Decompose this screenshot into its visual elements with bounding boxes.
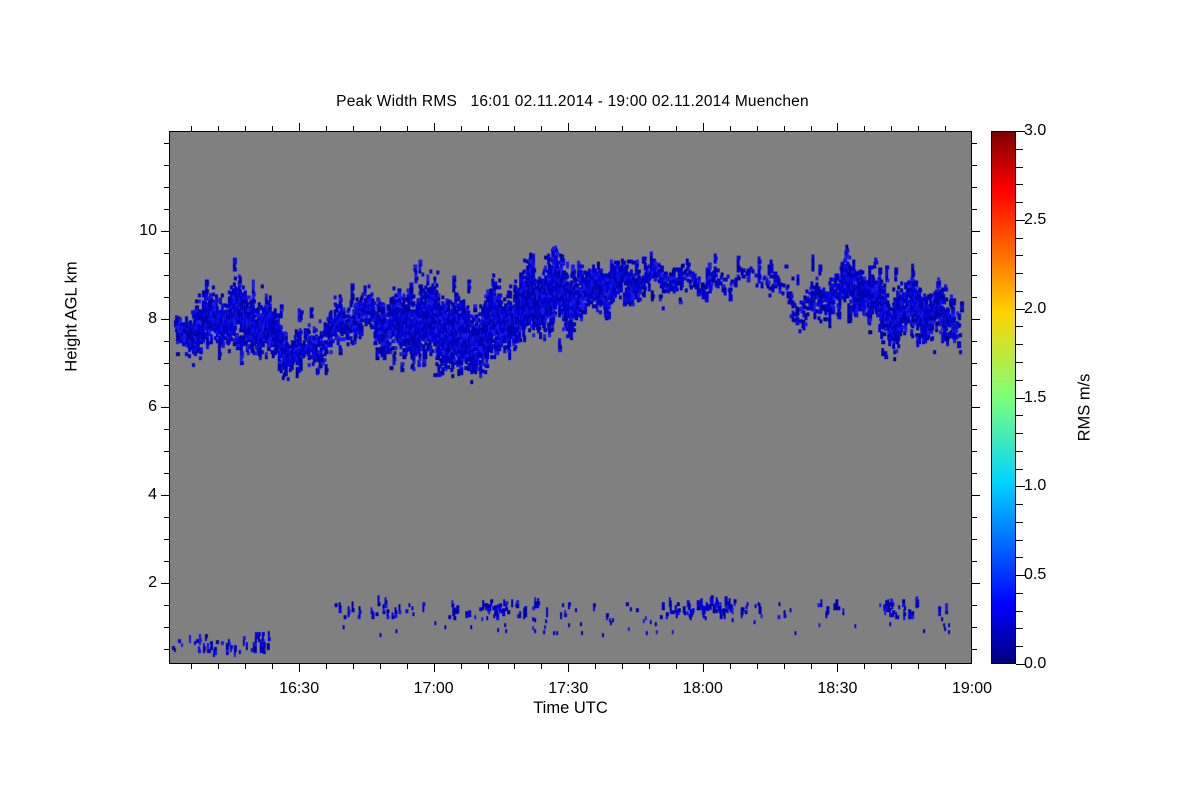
colorbar-tick <box>1016 611 1023 612</box>
colorbar-tick <box>1016 593 1023 594</box>
colorbar-tick-label: 3.0 <box>1024 122 1046 140</box>
colorbar-tick <box>1016 238 1023 239</box>
colorbar-tick <box>1016 167 1023 168</box>
colorbar-tick <box>1016 149 1023 150</box>
x-axis-tick <box>434 664 435 672</box>
colorbar-gradient <box>992 132 1015 663</box>
x-axis-tick-label: 17:30 <box>528 680 608 698</box>
x-axis-tick <box>461 664 462 669</box>
colorbar-tick-label: 0.0 <box>1024 655 1046 673</box>
x-axis-title: Time UTC <box>169 699 972 718</box>
colorbar-tick <box>1016 344 1023 345</box>
y-axis-tick <box>972 561 977 562</box>
colorbar-tick <box>1016 362 1023 363</box>
colorbar-tick <box>1016 451 1023 452</box>
y-axis-tick <box>972 297 977 298</box>
colorbar-tick <box>1016 469 1023 470</box>
x-axis-tick-label: 18:30 <box>797 680 877 698</box>
x-axis-tick <box>326 664 327 669</box>
y-axis-tick <box>972 275 977 276</box>
x-axis-tick <box>864 664 865 669</box>
x-axis-tick <box>649 664 650 669</box>
y-axis-tick <box>972 605 977 606</box>
x-axis-tick <box>837 664 838 672</box>
y-axis-tick <box>972 165 977 166</box>
y-axis-tick <box>972 473 977 474</box>
colorbar-tick-label: 0.5 <box>1024 566 1046 584</box>
y-axis-tick <box>972 583 980 584</box>
x-axis-tick <box>299 123 300 131</box>
y-axis-tick-label: 10 <box>117 222 157 240</box>
x-axis-tick <box>595 664 596 669</box>
colorbar-tick <box>1016 628 1023 629</box>
x-axis-tick-label: 17:00 <box>394 680 474 698</box>
colorbar-tick <box>1016 380 1023 381</box>
y-axis-tick-label: 8 <box>117 310 157 328</box>
y-axis-tick <box>972 539 977 540</box>
colorbar-tick <box>1016 184 1023 185</box>
colorbar-tick <box>1016 202 1023 203</box>
y-axis-tick <box>972 429 977 430</box>
x-axis-tick <box>514 664 515 669</box>
y-axis-tick <box>161 407 169 408</box>
y-axis-tick <box>972 649 977 650</box>
x-axis-tick <box>703 123 704 131</box>
colorbar-tick <box>1016 557 1023 558</box>
x-axis-tick <box>918 664 919 669</box>
y-axis-tick <box>972 231 980 232</box>
y-axis-tick <box>972 319 980 320</box>
y-axis-tick <box>972 143 977 144</box>
x-axis-tick <box>703 664 704 672</box>
x-axis-tick <box>622 664 623 669</box>
y-axis-tick <box>161 583 169 584</box>
y-axis-tick-label: 6 <box>117 398 157 416</box>
colorbar-tick <box>1016 540 1023 541</box>
y-axis-tick <box>161 495 169 496</box>
x-axis-tick <box>272 664 273 669</box>
colorbar-tick-label: 1.5 <box>1024 389 1046 407</box>
x-axis-tick <box>757 664 758 669</box>
x-axis-tick <box>299 664 300 672</box>
x-axis-tick <box>784 664 785 669</box>
colorbar-tick <box>1016 326 1023 327</box>
y-axis-tick <box>972 627 977 628</box>
x-axis-tick <box>837 123 838 131</box>
colorbar-tick <box>1016 522 1023 523</box>
y-axis-tick <box>972 253 977 254</box>
x-axis-tick <box>245 664 246 669</box>
heatmap-data-layer <box>170 132 971 663</box>
y-axis-tick <box>972 385 977 386</box>
colorbar-title: RMS m/s <box>1076 298 1095 518</box>
colorbar-tick <box>1016 646 1023 647</box>
x-axis-tick <box>730 664 731 669</box>
x-axis-tick <box>541 664 542 669</box>
colorbar-tick-label: 1.0 <box>1024 477 1046 495</box>
x-axis-tick-label: 16:30 <box>259 680 339 698</box>
x-axis-tick <box>676 664 677 669</box>
y-axis-tick <box>972 407 980 408</box>
colorbar-tick <box>1016 291 1023 292</box>
y-axis-tick <box>972 517 977 518</box>
x-axis-tick-label: 18:00 <box>663 680 743 698</box>
x-axis-tick <box>811 664 812 669</box>
x-axis-tick <box>407 664 408 669</box>
colorbar-tick-label: 2.5 <box>1024 211 1046 229</box>
x-axis-tick <box>434 123 435 131</box>
y-axis-tick <box>161 231 169 232</box>
x-axis-tick <box>945 664 946 669</box>
x-axis-tick <box>380 664 381 669</box>
y-axis-title: Height AGL km <box>63 167 82 467</box>
y-axis-tick-label: 2 <box>117 574 157 592</box>
y-axis-tick <box>972 495 980 496</box>
colorbar-tick-label: 2.0 <box>1024 300 1046 318</box>
y-axis-tick <box>972 451 977 452</box>
page-title: Peak Width RMS 16:01 02.11.2014 - 19:00 … <box>0 93 1145 111</box>
colorbar-tick <box>1016 433 1023 434</box>
x-axis-tick <box>568 123 569 131</box>
colorbar-tick <box>1016 504 1023 505</box>
y-axis-tick <box>161 319 169 320</box>
y-axis-tick <box>972 209 977 210</box>
colorbar-tick <box>1016 415 1023 416</box>
y-axis-tick <box>972 187 977 188</box>
x-axis-tick-label: 19:00 <box>932 680 1012 698</box>
colorbar-tick <box>1016 273 1023 274</box>
x-axis-tick <box>568 664 569 672</box>
x-axis-tick <box>488 664 489 669</box>
x-axis-tick <box>191 664 192 669</box>
x-axis-tick <box>218 664 219 669</box>
x-axis-tick <box>353 664 354 669</box>
plot-area[interactable] <box>169 131 972 664</box>
figure-canvas: Peak Width RMS 16:01 02.11.2014 - 19:00 … <box>0 0 1200 800</box>
colorbar[interactable] <box>991 131 1016 664</box>
x-axis-tick <box>891 664 892 669</box>
colorbar-tick <box>1016 255 1023 256</box>
y-axis-tick <box>972 363 977 364</box>
y-axis-tick-label: 4 <box>117 486 157 504</box>
y-axis-tick <box>972 341 977 342</box>
